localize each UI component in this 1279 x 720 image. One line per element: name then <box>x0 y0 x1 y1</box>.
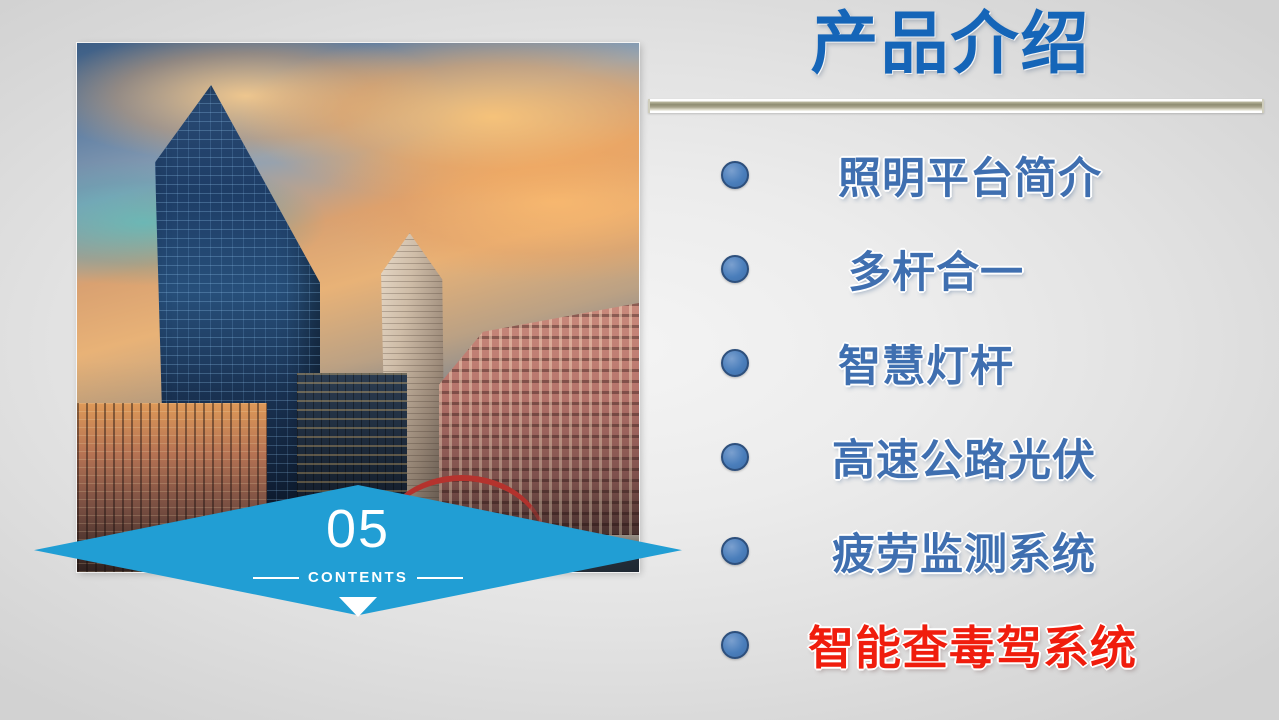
content-panel: 产品介绍 照明平台简介 多杆合一 智慧灯杆 高速公路光伏 疲劳监测系统 <box>640 0 1279 720</box>
contents-item-label: 智慧灯杆 <box>838 332 1014 394</box>
list-item[interactable]: 疲劳监测系统 <box>640 504 1279 598</box>
bullet-dot-icon <box>721 349 749 377</box>
contents-item-label: 疲劳监测系统 <box>832 520 1096 582</box>
page-title: 产品介绍 <box>640 6 1261 82</box>
bullet-dot-icon <box>721 537 749 565</box>
contents-list: 照明平台简介 多杆合一 智慧灯杆 高速公路光伏 疲劳监测系统 智能查毒驾系统 <box>640 128 1279 692</box>
list-item[interactable]: 智慧灯杆 <box>640 316 1279 410</box>
badge-rule-right-icon <box>417 577 463 579</box>
badge-rule-left-icon <box>253 577 299 579</box>
contents-item-label: 高速公路光伏 <box>832 426 1096 488</box>
list-item[interactable]: 多杆合一 <box>640 222 1279 316</box>
city-skyline-sunset-photo <box>77 43 639 572</box>
contents-item-label: 多杆合一 <box>848 238 1024 300</box>
down-caret-icon <box>339 597 377 617</box>
title-divider <box>648 99 1264 113</box>
contents-item-label: 智能查毒驾系统 <box>808 612 1137 678</box>
slide-photo <box>77 43 639 572</box>
list-item[interactable]: 照明平台简介 <box>640 128 1279 222</box>
bullet-dot-icon <box>721 631 749 659</box>
bullet-dot-icon <box>721 255 749 283</box>
list-item[interactable]: 智能查毒驾系统 <box>640 598 1279 692</box>
contents-item-label: 照明平台简介 <box>838 144 1102 206</box>
bullet-dot-icon <box>721 161 749 189</box>
presentation-slide: 05 CONTENTS 产品介绍 照明平台简介 多杆合一 智慧灯杆 <box>0 0 1279 720</box>
photo-overlay <box>77 43 639 572</box>
bullet-dot-icon <box>721 443 749 471</box>
list-item[interactable]: 高速公路光伏 <box>640 410 1279 504</box>
